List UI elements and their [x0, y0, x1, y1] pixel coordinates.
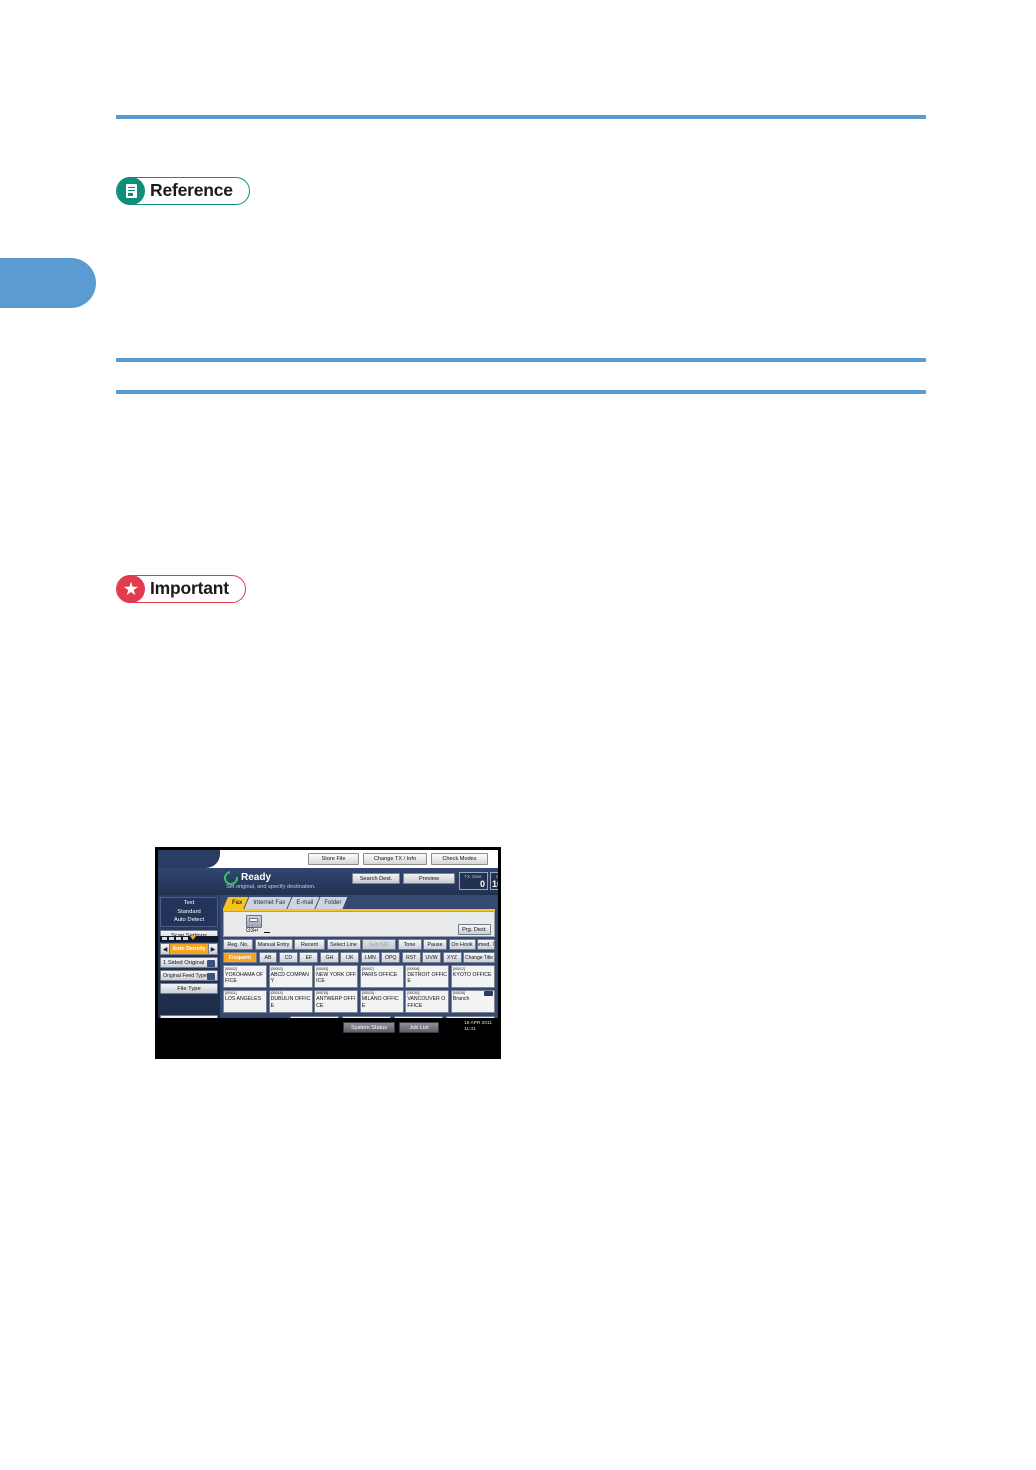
change-title-button[interactable]: Change Title: [463, 952, 495, 963]
density-scale: [160, 936, 218, 942]
file-type-button[interactable]: File Type: [160, 983, 218, 994]
tab-fax[interactable]: Fax: [223, 897, 248, 909]
auto-density-label[interactable]: Auto Density: [170, 943, 208, 955]
change-tx-info-button[interactable]: Change TX / Info: [363, 853, 427, 865]
immediate-tx-button[interactable]: Immed. TX: [477, 939, 495, 950]
destination-cell[interactable]: [00014] DUBULIN OFFICE: [269, 990, 313, 1013]
tab-internet-fax[interactable]: Internet Fax: [244, 897, 291, 909]
important-callout-badge: Important: [116, 575, 246, 603]
clock-display: 19 APR 2011 11:41: [464, 1021, 492, 1033]
manual-entry-button[interactable]: Manual Entry: [255, 939, 293, 950]
one-sided-original-button[interactable]: 1 Sided Original: [160, 957, 218, 968]
chapter-side-tab: [0, 258, 96, 308]
destination-name: DUBULIN OFFICE: [271, 996, 311, 1012]
lcd-screen: Store File Change TX / Info Check Modes …: [158, 850, 498, 1036]
reference-callout-label: Reference: [150, 182, 233, 200]
destination-name: Branch: [453, 996, 493, 1012]
reg-no-button[interactable]: Reg. No.: [223, 939, 253, 950]
select-line-button[interactable]: Select Line: [327, 939, 361, 950]
title-tab-gh[interactable]: GH: [320, 952, 339, 963]
instruction-text: Set original, and specify destination.: [226, 884, 316, 890]
destination-name: DETROIT OFFICE: [407, 972, 447, 988]
destination-cell[interactable]: [00003] ABCD COMPANY: [269, 965, 313, 988]
fax-control-panel-figure: Store File Change TX / Info Check Modes …: [155, 847, 501, 1059]
title-tab-lmn[interactable]: LMN: [361, 952, 380, 963]
destination-cell[interactable]: [00011] LOS ANGELES: [223, 990, 267, 1013]
duplex-icon: [207, 960, 215, 967]
destination-cell[interactable]: [00005] NEW YORK OFFICE: [314, 965, 358, 988]
destination-name: YOKOHAMA OFFICE: [225, 972, 265, 988]
transmission-type-tabs: Fax Internet Fax E-mail Folder: [223, 897, 343, 909]
horizontal-rule-middle-2: [116, 390, 926, 394]
density-increase-icon[interactable]: ▶: [208, 943, 218, 955]
fax-work-area: Fax Internet Fax E-mail Folder G3↵ Prg. …: [220, 895, 498, 1018]
summary-line-3: Auto Detect: [174, 916, 204, 924]
memory-meter: Memory 100%: [490, 872, 498, 890]
reference-callout-badge: Reference: [116, 177, 250, 205]
store-file-button[interactable]: Store File: [308, 853, 359, 865]
horizontal-rule-middle-1: [116, 358, 926, 362]
book-icon: [117, 177, 145, 205]
title-tab-ijk[interactable]: IJK: [340, 952, 359, 963]
density-decrease-icon[interactable]: ◀: [160, 943, 170, 955]
destination-cell[interactable]: [00024] MILANO OFFICE: [360, 990, 404, 1013]
summary-line-1: Text: [184, 899, 195, 907]
destination-cell[interactable]: [00012] KYOTO OFFICE: [451, 965, 495, 988]
pause-button[interactable]: Pause: [423, 939, 447, 950]
destination-name: NEW YORK OFFICE: [316, 972, 356, 988]
destination-name: VANCOUVER OFFICE: [407, 996, 447, 1012]
density-marker-icon: [190, 936, 196, 940]
check-modes-button[interactable]: Check Modes: [431, 853, 488, 865]
destination-cell[interactable]: [00002] YOKOHAMA OFFICE: [223, 965, 267, 988]
system-status-bar: System Status Job List 19 APR 2011 11:41: [158, 1018, 498, 1036]
title-tab-opq[interactable]: OPQ: [381, 952, 400, 963]
title-tab-cd[interactable]: CD: [279, 952, 298, 963]
tx-dest-meter: TX. Dest. 0: [459, 872, 488, 890]
title-tab-rst[interactable]: RST: [402, 952, 421, 963]
destination-cell[interactable]: [00030] VANCOUVER OFFICE: [405, 990, 449, 1013]
ready-label: Ready: [241, 873, 271, 883]
title-tab-frequent[interactable]: Frequent: [223, 952, 257, 963]
tx-dest-value: 0: [461, 879, 485, 889]
one-sided-original-label: 1 Sided Original: [163, 960, 204, 966]
original-feed-type-label: Original Feed Type: [163, 973, 207, 979]
memory-value: 100%: [492, 879, 498, 889]
panel-corner-decoration: [158, 850, 220, 868]
job-list-button[interactable]: Job List: [399, 1022, 439, 1033]
destination-cell[interactable]: [00008] DETROIT OFFICE: [405, 965, 449, 988]
destination-cell[interactable]: [00015] ANTWERP OFFICE: [314, 990, 358, 1013]
important-callout-label: Important: [150, 580, 229, 598]
original-feed-type-button[interactable]: Original Feed Type: [160, 970, 218, 981]
horizontal-rule-top: [116, 115, 926, 119]
feed-direction-icon: [207, 973, 215, 980]
destination-name: MILANO OFFICE: [362, 996, 402, 1012]
title-tab-ef[interactable]: EF: [299, 952, 318, 963]
destination-entry-box[interactable]: G3↵ Prg. Dest.: [223, 911, 495, 937]
dial-function-row: Reg. No. Manual Entry Recent Select Line…: [223, 939, 495, 950]
prg-dest-button[interactable]: Prg. Dest.: [458, 924, 491, 935]
address-title-tabs: Frequent AB CD EF GH IJK LMN OPQ RST UVW…: [223, 952, 495, 963]
destination-name: ANTWERP OFFICE: [316, 996, 356, 1012]
scan-settings-column: Text Standard Auto Detect Scan Settings …: [158, 895, 220, 1018]
ready-status: Ready: [224, 871, 271, 885]
title-tab-uvw[interactable]: UVW: [422, 952, 441, 963]
scan-settings-summary: Text Standard Auto Detect: [160, 897, 218, 927]
destination-name: PARIS OFFICE: [362, 972, 402, 988]
line-type-label: G3↵: [246, 927, 259, 934]
group-destination-icon: [484, 991, 493, 995]
auto-density-control[interactable]: ◀ Auto Density ▶: [160, 943, 218, 955]
title-tab-ab[interactable]: AB: [259, 952, 278, 963]
destination-name: LOS ANGELES: [225, 996, 265, 1012]
destination-grid: [00002] YOKOHAMA OFFICE [00003] ABCD COM…: [223, 965, 495, 1013]
destination-name: ABCD COMPANY: [271, 972, 311, 988]
summary-line-2: Standard: [177, 908, 201, 916]
tab-email[interactable]: E-mail: [287, 897, 319, 909]
tone-button[interactable]: Tone: [398, 939, 422, 950]
time-label: 11:41: [464, 1027, 492, 1033]
title-tab-xyz[interactable]: XYZ: [443, 952, 462, 963]
destination-cell[interactable]: [00007] PARIS OFFICE: [360, 965, 404, 988]
tab-folder[interactable]: Folder: [315, 897, 347, 909]
destination-cell[interactable]: [00035] Branch: [451, 990, 495, 1013]
destination-name: KYOTO OFFICE: [453, 972, 493, 988]
star-icon: [117, 575, 145, 603]
sub-sid-button: Sub/SID: [362, 939, 396, 950]
search-dest-button[interactable]: Search Dest.: [352, 873, 400, 884]
on-hook-button[interactable]: On Hook: [449, 939, 476, 950]
recent-button[interactable]: Recent: [294, 939, 325, 950]
preview-button[interactable]: Preview: [403, 873, 455, 884]
system-status-button[interactable]: System Status: [343, 1022, 395, 1033]
status-header: Ready Set original, and specify destinat…: [158, 868, 498, 895]
text-cursor: [264, 932, 270, 933]
hardware-key-strip: Store File Change TX / Info Check Modes: [158, 850, 498, 868]
